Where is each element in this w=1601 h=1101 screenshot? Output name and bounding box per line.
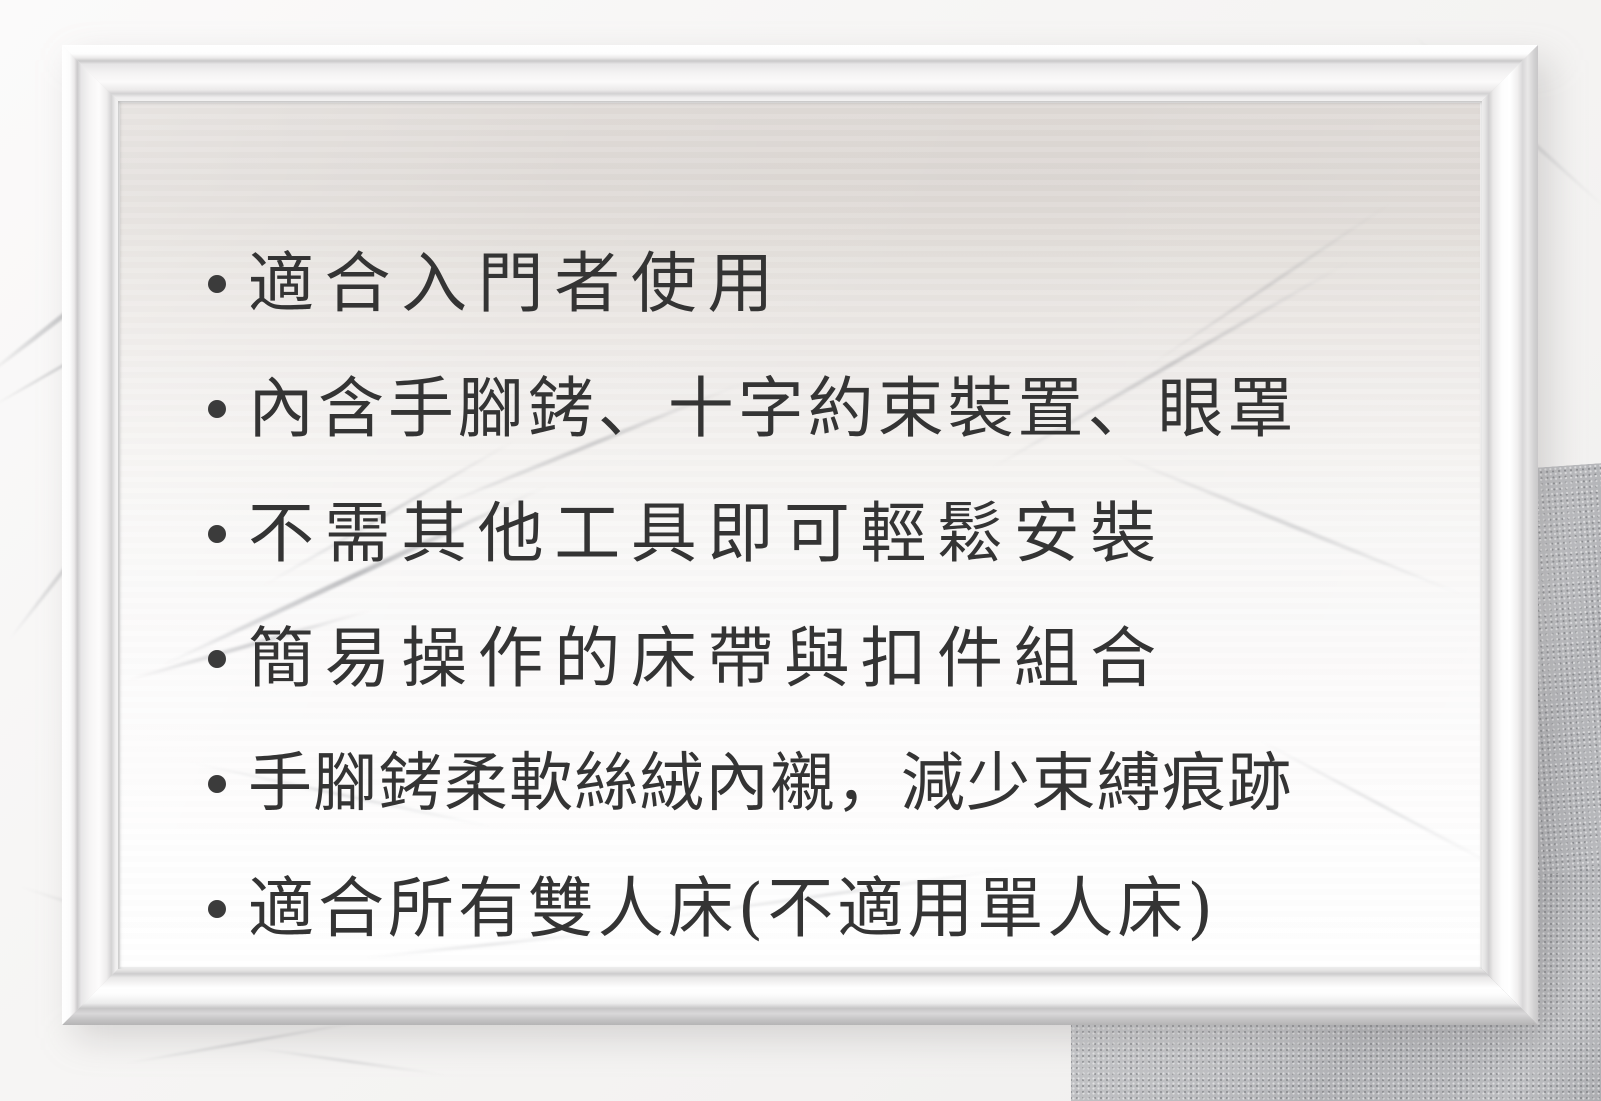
frame-inner-lip xyxy=(118,101,1482,969)
picture-frame: 適合入門者使用 內含手腳銬、十字約束裝置、眼罩 不需其他工具即可輕鬆安裝 簡易操… xyxy=(62,45,1538,1025)
frame-rail-right xyxy=(1474,45,1538,1025)
product-feature-poster: 適合入門者使用 內含手腳銬、十字約束裝置、眼罩 不需其他工具即可輕鬆安裝 簡易操… xyxy=(0,0,1601,1101)
frame-rail-left xyxy=(62,45,126,1025)
frame-rail-bottom xyxy=(62,961,1538,1025)
marble-vein xyxy=(251,1046,449,1077)
frame-rail-top xyxy=(62,45,1538,109)
